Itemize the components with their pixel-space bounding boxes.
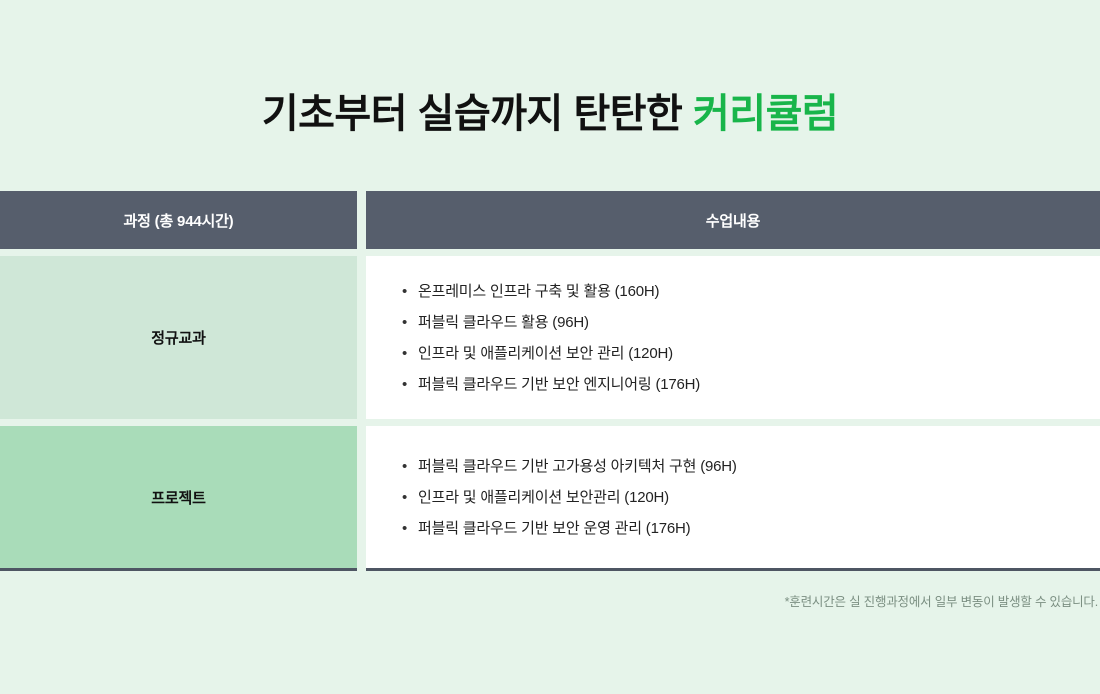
- list-item-label: 인프라 및 애플리케이션 보안 관리 (120H): [418, 343, 673, 364]
- list-item: • 인프라 및 애플리케이션 보안 관리 (120H): [402, 338, 1100, 369]
- list-item-label: 퍼블릭 클라우드 기반 보안 엔지니어링 (176H): [418, 374, 700, 395]
- list-item: • 온프레미스 인프라 구축 및 활용 (160H): [402, 276, 1100, 307]
- bullet-icon: •: [402, 374, 418, 395]
- table-row: 정규교과 • 온프레미스 인프라 구축 및 활용 (160H) • 퍼블릭 클라…: [0, 256, 1100, 419]
- row-content-project: • 퍼블릭 클라우드 기반 고가용성 아키텍처 구현 (96H) • 인프라 및…: [366, 426, 1100, 571]
- page-title-plain: 기초부터 실습까지 탄탄한: [262, 92, 693, 136]
- header-cell-content-label: 수업내용: [706, 210, 760, 231]
- bullet-icon: •: [402, 518, 418, 539]
- page-title: 기초부터 실습까지 탄탄한 커리큘럼: [0, 92, 1100, 136]
- list-item-label: 인프라 및 애플리케이션 보안관리 (120H): [418, 487, 669, 508]
- bullet-icon: •: [402, 343, 418, 364]
- curriculum-page: 기초부터 실습까지 탄탄한 커리큘럼 과정 (총 944시간) 수업내용 정규교…: [0, 0, 1100, 694]
- curriculum-table: 과정 (총 944시간) 수업내용 정규교과 • 온프레미스 인프라 구축 및 …: [0, 191, 1100, 571]
- list-item: • 인프라 및 애플리케이션 보안관리 (120H): [402, 482, 1100, 513]
- footnote-text: *훈련시간은 실 진행과정에서 일부 변동이 발생할 수 있습니다.: [785, 591, 1098, 610]
- table-row: 프로젝트 • 퍼블릭 클라우드 기반 고가용성 아키텍처 구현 (96H) • …: [0, 426, 1100, 571]
- row-label-regular-course: 정규교과: [0, 256, 357, 419]
- row-label-project: 프로젝트: [0, 426, 357, 571]
- list-item-label: 퍼블릭 클라우드 기반 고가용성 아키텍처 구현 (96H): [418, 456, 737, 477]
- list-item: • 퍼블릭 클라우드 기반 고가용성 아키텍처 구현 (96H): [402, 451, 1100, 482]
- bullet-icon: •: [402, 456, 418, 477]
- list-item-label: 퍼블릭 클라우드 기반 보안 운영 관리 (176H): [418, 518, 690, 539]
- header-cell-course: 과정 (총 944시간): [0, 191, 357, 249]
- page-title-accent: 커리큘럼: [693, 92, 838, 136]
- list-item: • 퍼블릭 클라우드 기반 보안 운영 관리 (176H): [402, 513, 1100, 544]
- bullet-icon: •: [402, 281, 418, 302]
- table-header-row: 과정 (총 944시간) 수업내용: [0, 191, 1100, 249]
- header-cell-course-label: 과정 (총 944시간): [124, 210, 234, 231]
- header-cell-content: 수업내용: [366, 191, 1100, 249]
- list-item-label: 퍼블릭 클라우드 활용 (96H): [418, 312, 589, 333]
- page-title-text: 기초부터 실습까지 탄탄한 커리큘럼: [0, 92, 1100, 136]
- bullet-icon: •: [402, 312, 418, 333]
- list-item: • 퍼블릭 클라우드 활용 (96H): [402, 307, 1100, 338]
- list-item: • 퍼블릭 클라우드 기반 보안 엔지니어링 (176H): [402, 369, 1100, 400]
- row-content-regular-course: • 온프레미스 인프라 구축 및 활용 (160H) • 퍼블릭 클라우드 활용…: [366, 256, 1100, 419]
- bullet-icon: •: [402, 487, 418, 508]
- list-item-label: 온프레미스 인프라 구축 및 활용 (160H): [418, 281, 659, 302]
